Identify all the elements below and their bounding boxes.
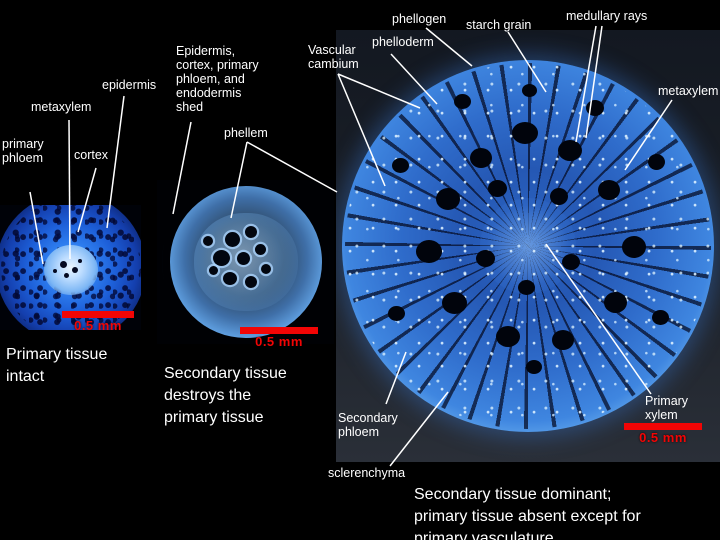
vessel-lumen (648, 154, 665, 170)
vessel-lumen (209, 266, 218, 275)
vessel-lumen (416, 240, 442, 263)
label-phellem: phellem (224, 126, 268, 140)
scale-bar-label: 0.5 mm (62, 318, 134, 333)
vessel-lumen (622, 236, 646, 258)
label-metaxylem-left: metaxylem (31, 100, 91, 114)
label-cortex: cortex (74, 148, 108, 162)
vessel-lumen (388, 306, 405, 321)
scale-bar-panel2: 0.5 mm (240, 327, 318, 349)
label-tissues-shed: Epidermis, cortex, primary phloem, and e… (176, 44, 259, 114)
vessel-lumen (652, 310, 669, 325)
metaxylem-vessel (64, 273, 69, 278)
vessel-lumen (245, 276, 257, 288)
label-primary-xylem: Primary xylem (645, 394, 720, 422)
vessel-lumen (223, 272, 237, 285)
label-vascular-cambium: Vascular cambium (308, 43, 359, 71)
vessel-lumen (392, 158, 409, 173)
vessel-lumen (442, 292, 467, 314)
vessel-lumen (454, 94, 471, 109)
vessel-lumen (213, 250, 230, 266)
vessel-lumen (203, 236, 213, 246)
vessel-lumen (488, 180, 507, 197)
vessel-lumen (586, 100, 604, 116)
secondary-growth-micrograph (157, 180, 334, 344)
vessel-lumen (526, 360, 542, 374)
caption-panel1: Primary tissue intact (6, 344, 156, 388)
metaxylem-vessel (60, 261, 67, 268)
scale-bar-panel1: 0.5 mm (62, 311, 134, 333)
scale-bar-label: 0.5 mm (240, 334, 318, 349)
metaxylem-vessel (53, 269, 57, 273)
vessel-lumen (550, 188, 568, 205)
label-primary-phloem: primary phloem (2, 137, 44, 165)
label-phelloderm: phelloderm (372, 35, 434, 49)
caption-panel2: Secondary tissue destroys the primary ti… (164, 363, 332, 429)
vessel-lumen (470, 148, 492, 168)
caption-panel3: Secondary tissue dominant; primary tissu… (414, 484, 714, 540)
stele-core (44, 245, 98, 295)
vessel-lumen (522, 84, 537, 97)
label-medullary-rays: medullary rays (566, 9, 647, 23)
label-starch-grain: starch grain (466, 18, 531, 32)
label-sclerenchyma: sclerenchyma (328, 466, 405, 480)
scale-bar-line (62, 311, 134, 318)
vessel-lumen (552, 330, 574, 350)
vessel-lumen (496, 326, 520, 347)
vessel-lumen (476, 250, 495, 267)
vessel-lumen (598, 180, 620, 200)
label-epidermis: epidermis (102, 78, 156, 92)
scale-bar-panel3: 0.5 mm (624, 423, 702, 445)
vessel-lumen (604, 292, 627, 313)
scale-bar-line (624, 423, 702, 430)
vessel-lumen (255, 244, 266, 255)
vessel-lumen (562, 254, 580, 270)
label-secondary-phloem: Secondary phloem (338, 411, 398, 439)
vessel-lumen (518, 280, 535, 295)
label-phellogen: phellogen (392, 12, 446, 26)
vessel-lumen (261, 264, 271, 274)
vessel-lumen (512, 122, 538, 144)
scale-bar-line (240, 327, 318, 334)
starch-grain-speckles (345, 63, 711, 429)
metaxylem-vessel (72, 267, 78, 273)
vessel-lumen (558, 140, 582, 161)
vessel-lumen (245, 226, 257, 238)
label-metaxylem-right: metaxylem (658, 84, 718, 98)
slide-canvas: primary phloem metaxylem cortex epidermi… (0, 0, 720, 540)
vessel-lumen (225, 232, 240, 247)
metaxylem-vessel (78, 259, 82, 263)
vessel-lumen (237, 252, 250, 265)
scale-bar-label: 0.5 mm (624, 430, 702, 445)
vessel-lumen (436, 188, 460, 210)
